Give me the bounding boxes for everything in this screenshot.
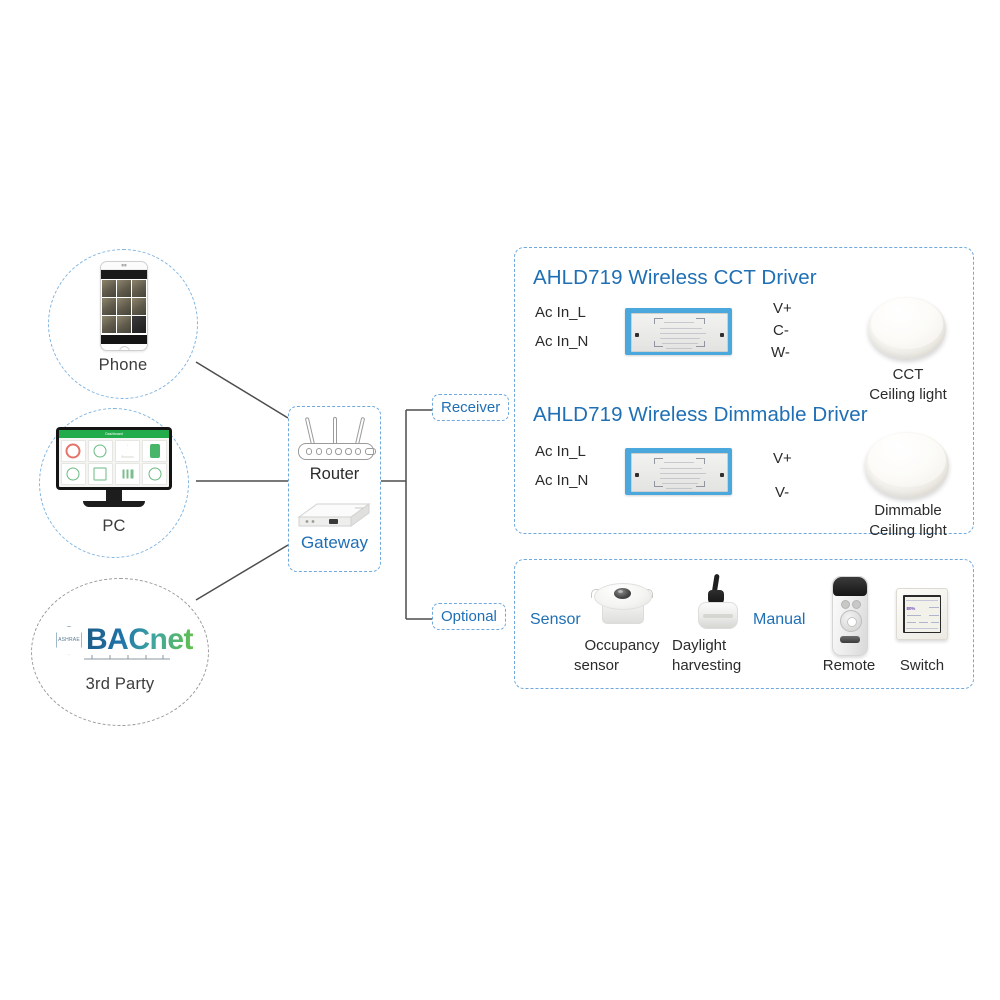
dim-input-label-n: Ac In_N (535, 472, 588, 489)
receiver-panel: AHLD719 Wireless CCT Driver Ac In_L Ac I… (514, 247, 974, 534)
bacnet-bus-line (84, 655, 170, 662)
source-node-phone[interactable]: ▮▮▮ Phone (48, 249, 198, 399)
dim-output-label-vminus: V- (775, 484, 789, 501)
ceiling-light-dimmable-icon (865, 432, 949, 498)
phone-status-bar: ▮▮▮ (101, 262, 147, 270)
remote-label: Remote (807, 656, 891, 676)
wire-thirdparty-to-router (196, 545, 288, 600)
router-label: Router (289, 465, 380, 484)
wire-phone-to-router (196, 362, 288, 418)
cct-output-label-c: C- (773, 322, 789, 339)
bacnet-wordmark: BACnet (86, 625, 193, 655)
phone-app-header (101, 270, 147, 279)
daylight-sensor-label-2: harvesting (660, 656, 790, 676)
dim-output-label-vplus: V+ (773, 450, 792, 467)
switch-label: Switch (883, 656, 961, 676)
occupancy-sensor-icon (591, 583, 653, 629)
bacnet-logo: ASHRAE BACnet (56, 625, 193, 655)
router-gateway-group[interactable]: Router Gateway (288, 406, 381, 572)
optional-panel: Sensor Occupancy sensor Daylight harvest… (514, 559, 974, 689)
group-label-sensor: Sensor (530, 611, 581, 629)
wall-switch-panel-icon: 80% (896, 588, 948, 640)
driver-module-cct (625, 308, 732, 355)
dashboard-title-bar: Dashboard (59, 430, 169, 438)
branch-tag-receiver[interactable]: Receiver (432, 394, 509, 421)
monitor-stand-base (83, 501, 145, 507)
source-label-pc: PC (40, 517, 188, 536)
cct-output-label-vplus: V+ (773, 300, 792, 317)
driver-title-cct: AHLD719 Wireless CCT Driver (533, 266, 817, 290)
cct-output-label-w: W- (771, 344, 790, 361)
ceiling-light-cct-label-2: Ceiling light (828, 385, 988, 405)
group-label-manual: Manual (753, 611, 805, 629)
remote-control-icon (832, 576, 868, 656)
ceiling-light-dimmable-label-1: Dimmable (828, 501, 988, 521)
wifi-router-icon (298, 418, 372, 460)
phone-tab-bar (101, 335, 147, 344)
driver-module-dimmable (625, 448, 732, 495)
ceiling-light-cct-icon (868, 297, 946, 359)
smartphone-icon: ▮▮▮ (100, 261, 148, 351)
phone-home-button (119, 346, 130, 351)
switch-lcd-value: 80% (907, 606, 916, 611)
cct-input-label-n: Ac In_N (535, 333, 588, 350)
ceiling-light-cct-label-1: CCT (828, 365, 988, 385)
driver-title-dimmable: AHLD719 Wireless Dimmable Driver (533, 403, 868, 427)
gateway-label: Gateway (289, 533, 380, 553)
gateway-box-icon (295, 491, 375, 531)
phone-photo-grid (101, 279, 147, 334)
diagram-canvas: ▮▮▮ Phone Dashboard (0, 0, 1000, 1000)
daylight-sensor-label-1: Daylight (660, 636, 778, 656)
ceiling-light-dimmable-label-2: Ceiling light (828, 521, 988, 541)
source-node-third-party[interactable]: ASHRAE BACnet 3rd Party (31, 578, 209, 726)
source-label-phone: Phone (49, 356, 197, 375)
dashboard-tiles (59, 438, 169, 487)
daylight-sensor-icon (695, 574, 739, 634)
desktop-monitor-icon: Dashboard (56, 427, 172, 509)
ashrae-badge-icon: ASHRAE (56, 626, 82, 655)
monitor-stand-neck (106, 490, 122, 501)
branch-tag-optional[interactable]: Optional (432, 603, 506, 630)
dim-input-label-l: Ac In_L (535, 443, 586, 460)
source-node-pc[interactable]: Dashboard PC (39, 408, 189, 558)
monitor-screen: Dashboard (56, 427, 172, 490)
source-label-third-party: 3rd Party (32, 675, 208, 694)
cct-input-label-l: Ac In_L (535, 304, 586, 321)
